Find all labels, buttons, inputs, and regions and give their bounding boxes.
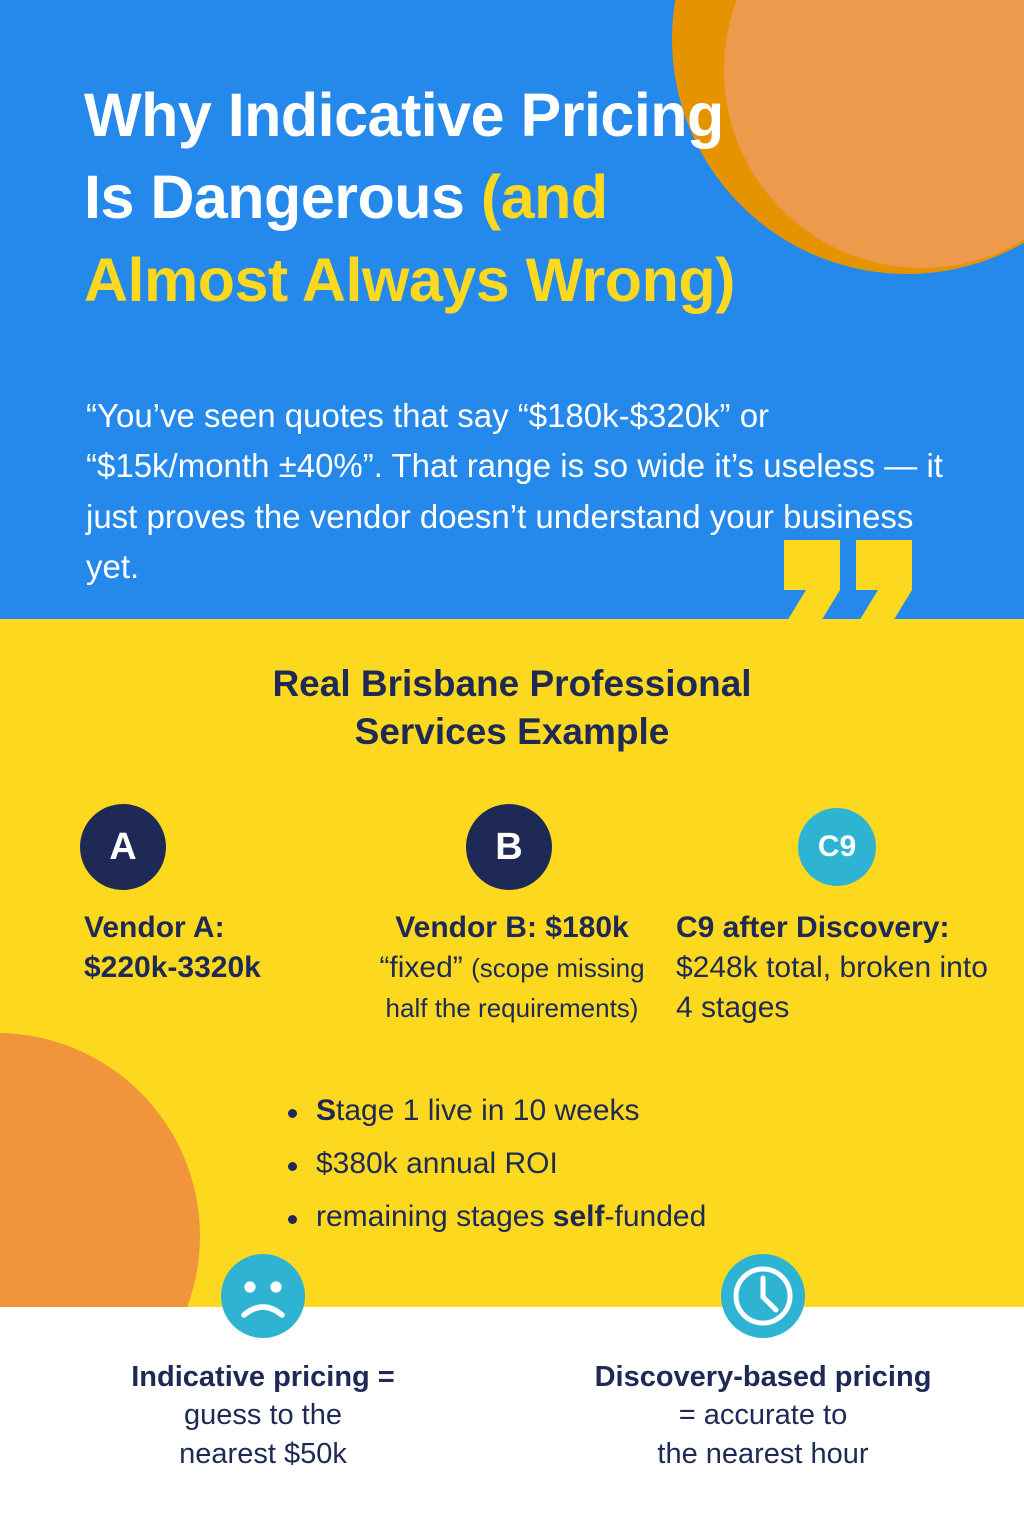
vendor-column-c9: C9 after Discovery: $248k total, broken … bbox=[676, 908, 996, 1028]
footer-left-line-2: guess to the bbox=[48, 1396, 478, 1434]
footer-left-text: Indicative pricing = guess to the neares… bbox=[48, 1358, 478, 1473]
bullet-1-rest: tage 1 live in 10 weeks bbox=[336, 1094, 640, 1127]
bullet-1-lead: S bbox=[316, 1094, 336, 1127]
vendor-c9-title: C9 after Discovery: bbox=[676, 908, 996, 948]
footer-column-indicative: Indicative pricing = guess to the neares… bbox=[48, 1254, 478, 1473]
bullet-3-lead: self bbox=[553, 1200, 605, 1233]
page-title-line-2-white: Is Dangerous bbox=[84, 163, 481, 231]
vendor-b-detail: “fixed” (scope missing half the requirem… bbox=[372, 948, 652, 1028]
footer-right-line-3: the nearest hour bbox=[548, 1435, 978, 1473]
bullet-3-rest: -funded bbox=[605, 1200, 707, 1233]
vendor-column-a: Vendor A: $220k-3320k bbox=[84, 908, 384, 988]
sad-face-icon bbox=[221, 1254, 305, 1338]
footer-right-line-1: Discovery-based pricing bbox=[548, 1358, 978, 1396]
vendor-badge-b: B bbox=[466, 804, 552, 890]
list-item: remaining stages self-funded bbox=[284, 1202, 884, 1232]
example-heading-line-1: Real Brisbane Professional bbox=[112, 660, 912, 708]
vendor-a-title: Vendor A: bbox=[84, 908, 384, 948]
vendor-b-detail-quoted: “fixed” bbox=[379, 951, 462, 984]
clock-icon bbox=[721, 1254, 805, 1338]
example-heading: Real Brisbane Professional Services Exam… bbox=[112, 660, 912, 756]
bullet-2-rest: $380k annual ROI bbox=[316, 1147, 558, 1180]
footer-right-text: Discovery-based pricing = accurate to th… bbox=[548, 1358, 978, 1473]
vendor-b-title: Vendor B: $180k bbox=[372, 908, 652, 948]
page-title-line-2: Is Dangerous (and bbox=[84, 156, 964, 238]
footer-column-discovery: Discovery-based pricing = accurate to th… bbox=[548, 1254, 978, 1473]
footer-right-line-2: = accurate to bbox=[548, 1396, 978, 1434]
page-title-line-2-accent: (and bbox=[481, 163, 608, 231]
outcome-bullet-list: Stage 1 live in 10 weeks $380k annual RO… bbox=[284, 1096, 884, 1255]
vendor-badge-a-label: A bbox=[109, 826, 136, 869]
infographic-poster: Why Indicative Pricing Is Dangerous (and… bbox=[0, 0, 1024, 1536]
bullet-3-pre: remaining stages bbox=[316, 1200, 553, 1233]
footer-left-line-1: Indicative pricing = bbox=[48, 1358, 478, 1396]
vendor-badge-c9: C9 bbox=[798, 808, 876, 886]
quotation-mark-icon bbox=[784, 540, 916, 626]
vendor-column-b: Vendor B: $180k “fixed” (scope missing h… bbox=[372, 908, 652, 1028]
footer-left-line-3: nearest $50k bbox=[48, 1435, 478, 1473]
page-title-line-1: Why Indicative Pricing bbox=[84, 74, 964, 156]
list-item: $380k annual ROI bbox=[284, 1149, 884, 1179]
vendor-badge-a: A bbox=[80, 804, 166, 890]
list-item: Stage 1 live in 10 weeks bbox=[284, 1096, 884, 1126]
example-heading-line-2: Services Example bbox=[112, 708, 912, 756]
page-title: Why Indicative Pricing Is Dangerous (and… bbox=[84, 74, 964, 321]
vendor-badge-b-label: B bbox=[495, 826, 522, 869]
page-title-line-3: Almost Always Wrong) bbox=[84, 239, 964, 321]
vendor-badge-c9-label: C9 bbox=[818, 830, 856, 864]
vendor-a-detail: $220k-3320k bbox=[84, 948, 384, 988]
vendor-c9-detail: $248k total, broken into 4 stages bbox=[676, 948, 996, 1028]
